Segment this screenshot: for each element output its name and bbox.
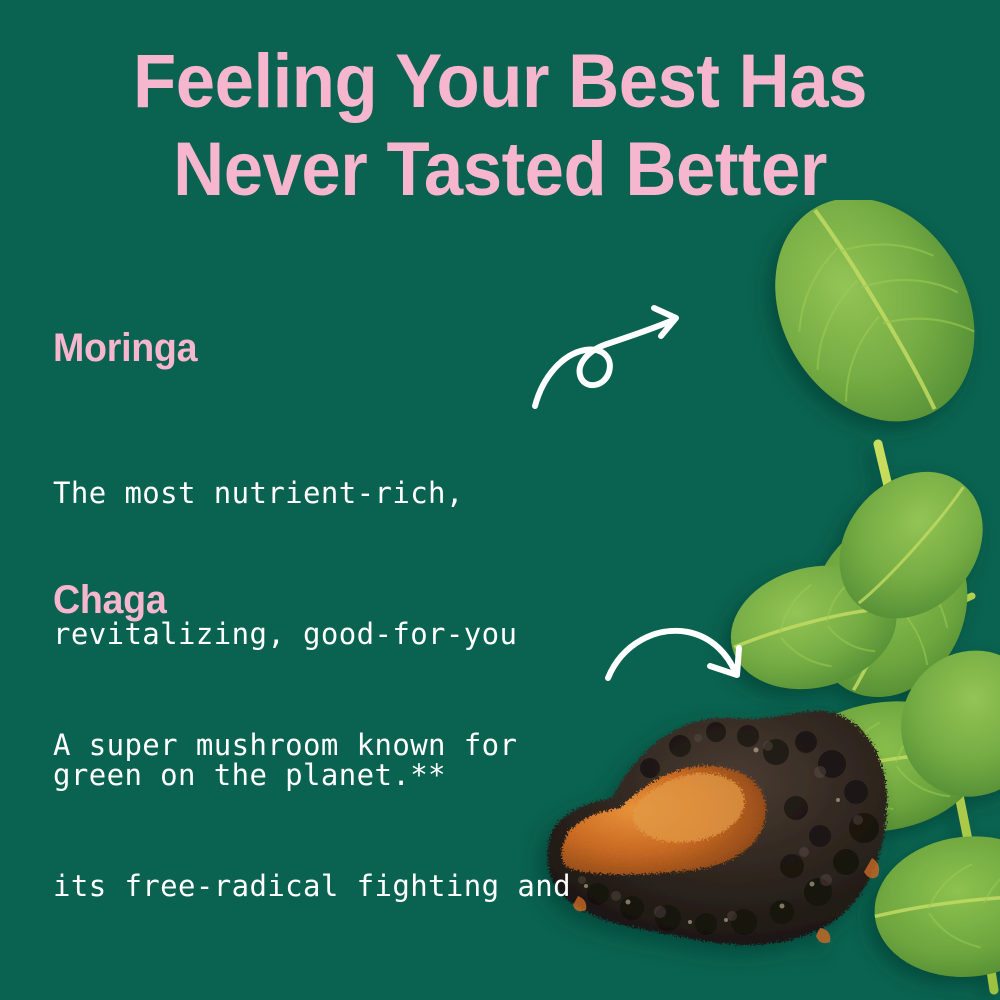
arc-arrow-down-right-icon — [600, 618, 760, 698]
headline-line-1: Feeling Your Best Has — [35, 38, 965, 126]
ingredient-description-chaga: A super mushroom known for its free-radi… — [53, 628, 571, 1000]
ingredient-title-moringa: Moringa — [53, 326, 489, 370]
description-line: A super mushroom known for — [53, 722, 571, 769]
ingredient-title-chaga: Chaga — [53, 578, 540, 622]
chaga-mushroom-photo — [520, 680, 940, 980]
ingredient-block-chaga: Chaga A super mushroom known for its fre… — [53, 578, 571, 1000]
page-title: Feeling Your Best Has Never Tasted Bette… — [35, 38, 965, 214]
description-line: its free-radical fighting and — [53, 863, 571, 910]
headline-line-2: Never Tasted Better — [35, 126, 965, 214]
description-line: The most nutrient-rich, — [53, 470, 517, 517]
curly-loop-arrow-up-right-icon — [525, 298, 695, 413]
promo-graphic: Feeling Your Best Has Never Tasted Bette… — [0, 0, 1000, 1000]
